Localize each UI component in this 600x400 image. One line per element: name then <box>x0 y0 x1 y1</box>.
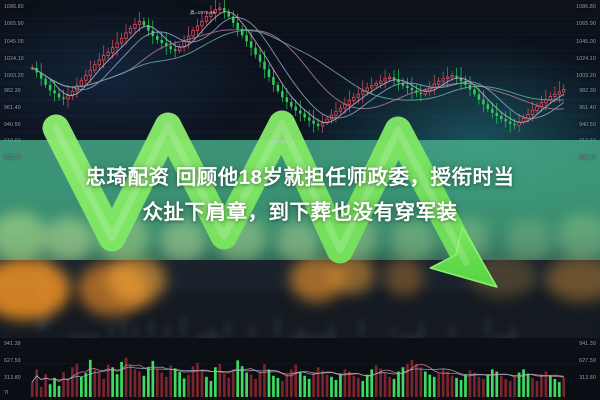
volume-chart-panel[interactable] <box>0 338 600 400</box>
headline-text: 忠琦配资 回顾他18岁就担任师政委，授衔时当 众扯下肩章，到下葬也没有穿军装 <box>0 160 600 230</box>
y-tick-right-6: 961.40 <box>579 105 596 111</box>
y-tick-left-2: 1045.00 <box>4 39 24 45</box>
y-tick-left-7: 940.50 <box>4 122 21 128</box>
screenshot-root: 1086.80 1065.90 1045.00 1024.10 1003.20 … <box>0 0 600 400</box>
bokeh-light-3 <box>108 256 166 304</box>
price-chart-svg <box>0 0 600 152</box>
headline-line-1: 忠琦配资 回顾他18岁就担任师政委，授衔时当 <box>86 166 515 189</box>
bokeh-light-5 <box>330 254 374 294</box>
low-marker-label: 912.29→ <box>272 139 292 144</box>
y-tick-left-9: 898.70 <box>4 155 21 161</box>
bokeh-light-7 <box>470 254 536 298</box>
y-tick-right-8: 919.60 <box>579 138 596 144</box>
y-tick-left-1: 1065.90 <box>4 21 24 27</box>
vol-tick-right-2: 313.80 <box>579 375 596 381</box>
high-marker-label: 高=1079.45 <box>190 10 216 16</box>
y-tick-right-4: 1003.20 <box>576 73 596 79</box>
vol-tick-left-2: 313.80 <box>4 375 21 381</box>
bokeh-light-4 <box>290 256 344 302</box>
bokeh-light-8 <box>546 256 600 302</box>
y-tick-right-5: 982.30 <box>579 88 596 94</box>
y-tick-left-8: 919.60 <box>4 138 21 144</box>
bokeh-light-6 <box>384 258 424 296</box>
volume-chart-svg <box>0 338 600 400</box>
vol-tick-left-0: 941.39 <box>4 341 21 347</box>
blurred-terminal-strip <box>0 250 600 346</box>
y-tick-right-9: 898.70 <box>579 155 596 161</box>
y-tick-right-1: 1065.90 <box>576 21 596 27</box>
y-tick-right-2: 1045.00 <box>576 39 596 45</box>
y-tick-left-0: 1086.80 <box>4 4 24 10</box>
vol-tick-right-0: 941.39 <box>579 341 596 347</box>
vol-tick-right-1: 627.59 <box>579 358 596 364</box>
y-tick-right-7: 940.50 <box>579 122 596 128</box>
y-tick-right-3: 1024.10 <box>576 56 596 62</box>
y-tick-left-5: 982.30 <box>4 88 21 94</box>
bokeh-light-1 <box>0 258 70 320</box>
vol-tick-left-3: 7I <box>4 390 9 396</box>
y-tick-left-6: 961.40 <box>4 105 21 111</box>
y-tick-left-4: 1003.20 <box>4 73 24 79</box>
vol-tick-left-1: 627.59 <box>4 358 21 364</box>
bokeh-light-2 <box>78 262 148 316</box>
headline-line-2: 众扯下肩章，到下葬也没有穿军装 <box>0 195 600 230</box>
y-tick-left-3: 1024.10 <box>4 56 24 62</box>
price-chart-panel[interactable] <box>0 0 600 152</box>
y-tick-right-0: 1086.80 <box>576 4 596 10</box>
